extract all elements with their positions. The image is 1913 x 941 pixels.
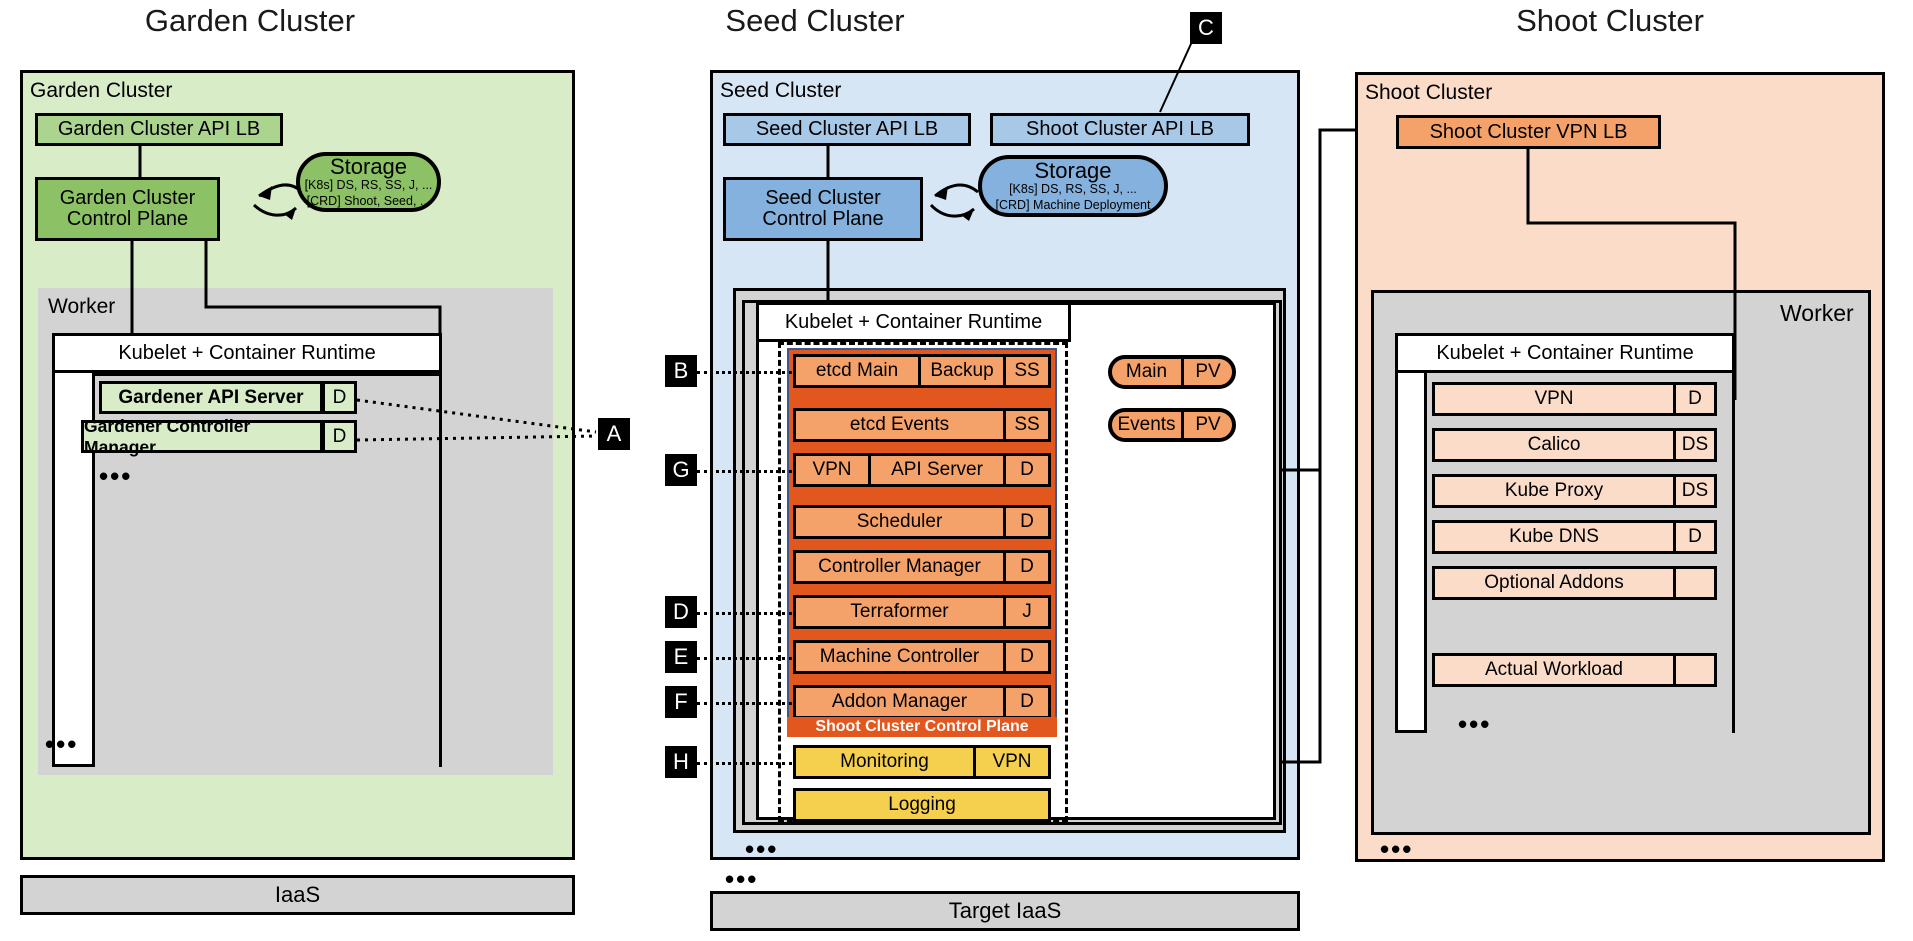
callout-tag-e-label: E — [674, 644, 689, 670]
callout-tag-h: H — [665, 746, 697, 778]
shoot-workload-kind — [1673, 656, 1714, 684]
shoot-pods-ellipsis: ••• — [1458, 718, 1491, 731]
shoot-pod-kind-3: D — [1673, 523, 1714, 551]
callout-tag-c: C — [1190, 12, 1222, 44]
callout-leader-d — [697, 612, 792, 615]
shoot-kubelet-box: Kubelet + Container Runtime — [1395, 333, 1735, 373]
shoot-pod-row-3[interactable]: Kube DNS D — [1432, 520, 1717, 554]
callout-tag-h-label: H — [673, 749, 689, 775]
shoot-pod-row-1[interactable]: Calico DS — [1432, 428, 1717, 462]
shoot-pod-kind-2: DS — [1673, 477, 1714, 505]
callout-leader-e — [697, 657, 792, 660]
shoot-workload-row[interactable]: Actual Workload — [1432, 653, 1717, 687]
shoot-pod-row-4[interactable]: Optional Addons — [1432, 566, 1717, 600]
callout-leader-b — [697, 371, 792, 374]
callout-leader-f — [697, 702, 792, 705]
callout-tag-d: D — [665, 596, 697, 628]
shoot-pod-kind-0: D — [1673, 385, 1714, 413]
shoot-pod-name-2: Kube Proxy — [1435, 477, 1673, 505]
callout-tag-e: E — [665, 641, 697, 673]
callout-leader-h — [697, 762, 792, 765]
callout-tag-d-label: D — [673, 599, 689, 625]
shoot-panel-ellipsis: ••• — [1380, 843, 1413, 856]
shoot-pod-kind-4 — [1673, 569, 1714, 597]
shoot-pod-name-4: Optional Addons — [1435, 569, 1673, 597]
shoot-pod-name-1: Calico — [1435, 431, 1673, 459]
shoot-pod-row-2[interactable]: Kube Proxy DS — [1432, 474, 1717, 508]
shoot-pod-row-0[interactable]: VPN D — [1432, 382, 1717, 416]
callout-leader-g — [697, 470, 792, 473]
shoot-workload-name: Actual Workload — [1435, 656, 1673, 684]
callout-tag-f: F — [665, 686, 697, 718]
shoot-pod-kind-1: DS — [1673, 431, 1714, 459]
shoot-kubelet-label: Kubelet + Container Runtime — [1436, 342, 1693, 365]
callout-tag-c-label: C — [1198, 15, 1214, 41]
callout-leader-a — [0, 0, 700, 500]
shoot-pod-name-0: VPN — [1435, 385, 1673, 413]
shoot-pod-name-3: Kube DNS — [1435, 523, 1673, 551]
callout-tag-f-label: F — [674, 689, 687, 715]
